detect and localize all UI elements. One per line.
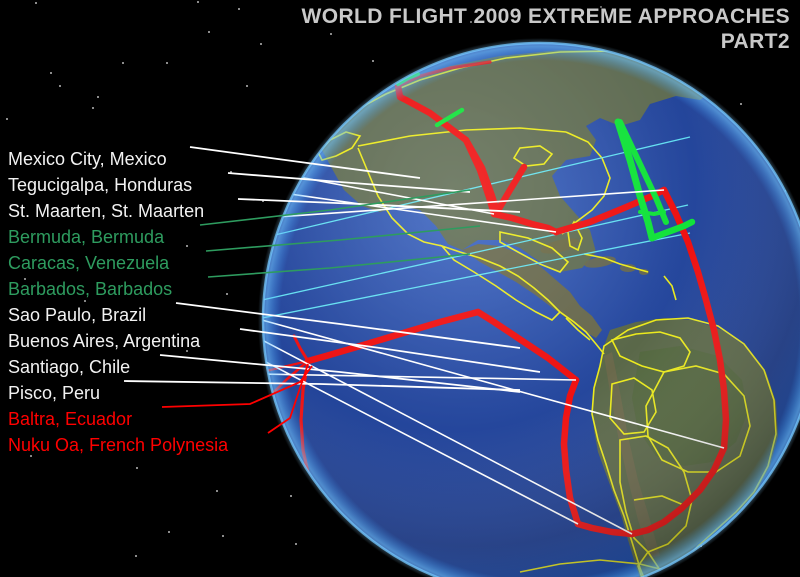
city-label-list: Mexico City, MexicoTegucigalpa, Honduras…	[0, 0, 800, 577]
city-label-baltra: Baltra, Ecuador	[8, 410, 132, 428]
city-label-nuku-oa: Nuku Oa, French Polynesia	[8, 436, 228, 454]
city-label-santiago: Santiago, Chile	[8, 358, 130, 376]
city-label-barbados: Barbados, Barbados	[8, 280, 172, 298]
city-label-caracas: Caracas, Venezuela	[8, 254, 169, 272]
city-label-sao-paulo: Sao Paulo, Brazil	[8, 306, 146, 324]
city-label-bermuda: Bermuda, Bermuda	[8, 228, 164, 246]
city-label-tegucigalpa: Tegucigalpa, Honduras	[8, 176, 192, 194]
screenshot-root: WORLD FLIGHT 2009 EXTREME APPROACHES PAR…	[0, 0, 800, 577]
city-label-mexico-city: Mexico City, Mexico	[8, 150, 167, 168]
city-label-buenos-aires: Buenos Aires, Argentina	[8, 332, 200, 350]
city-label-pisco: Pisco, Peru	[8, 384, 100, 402]
city-label-st-maarten: St. Maarten, St. Maarten	[8, 202, 204, 220]
